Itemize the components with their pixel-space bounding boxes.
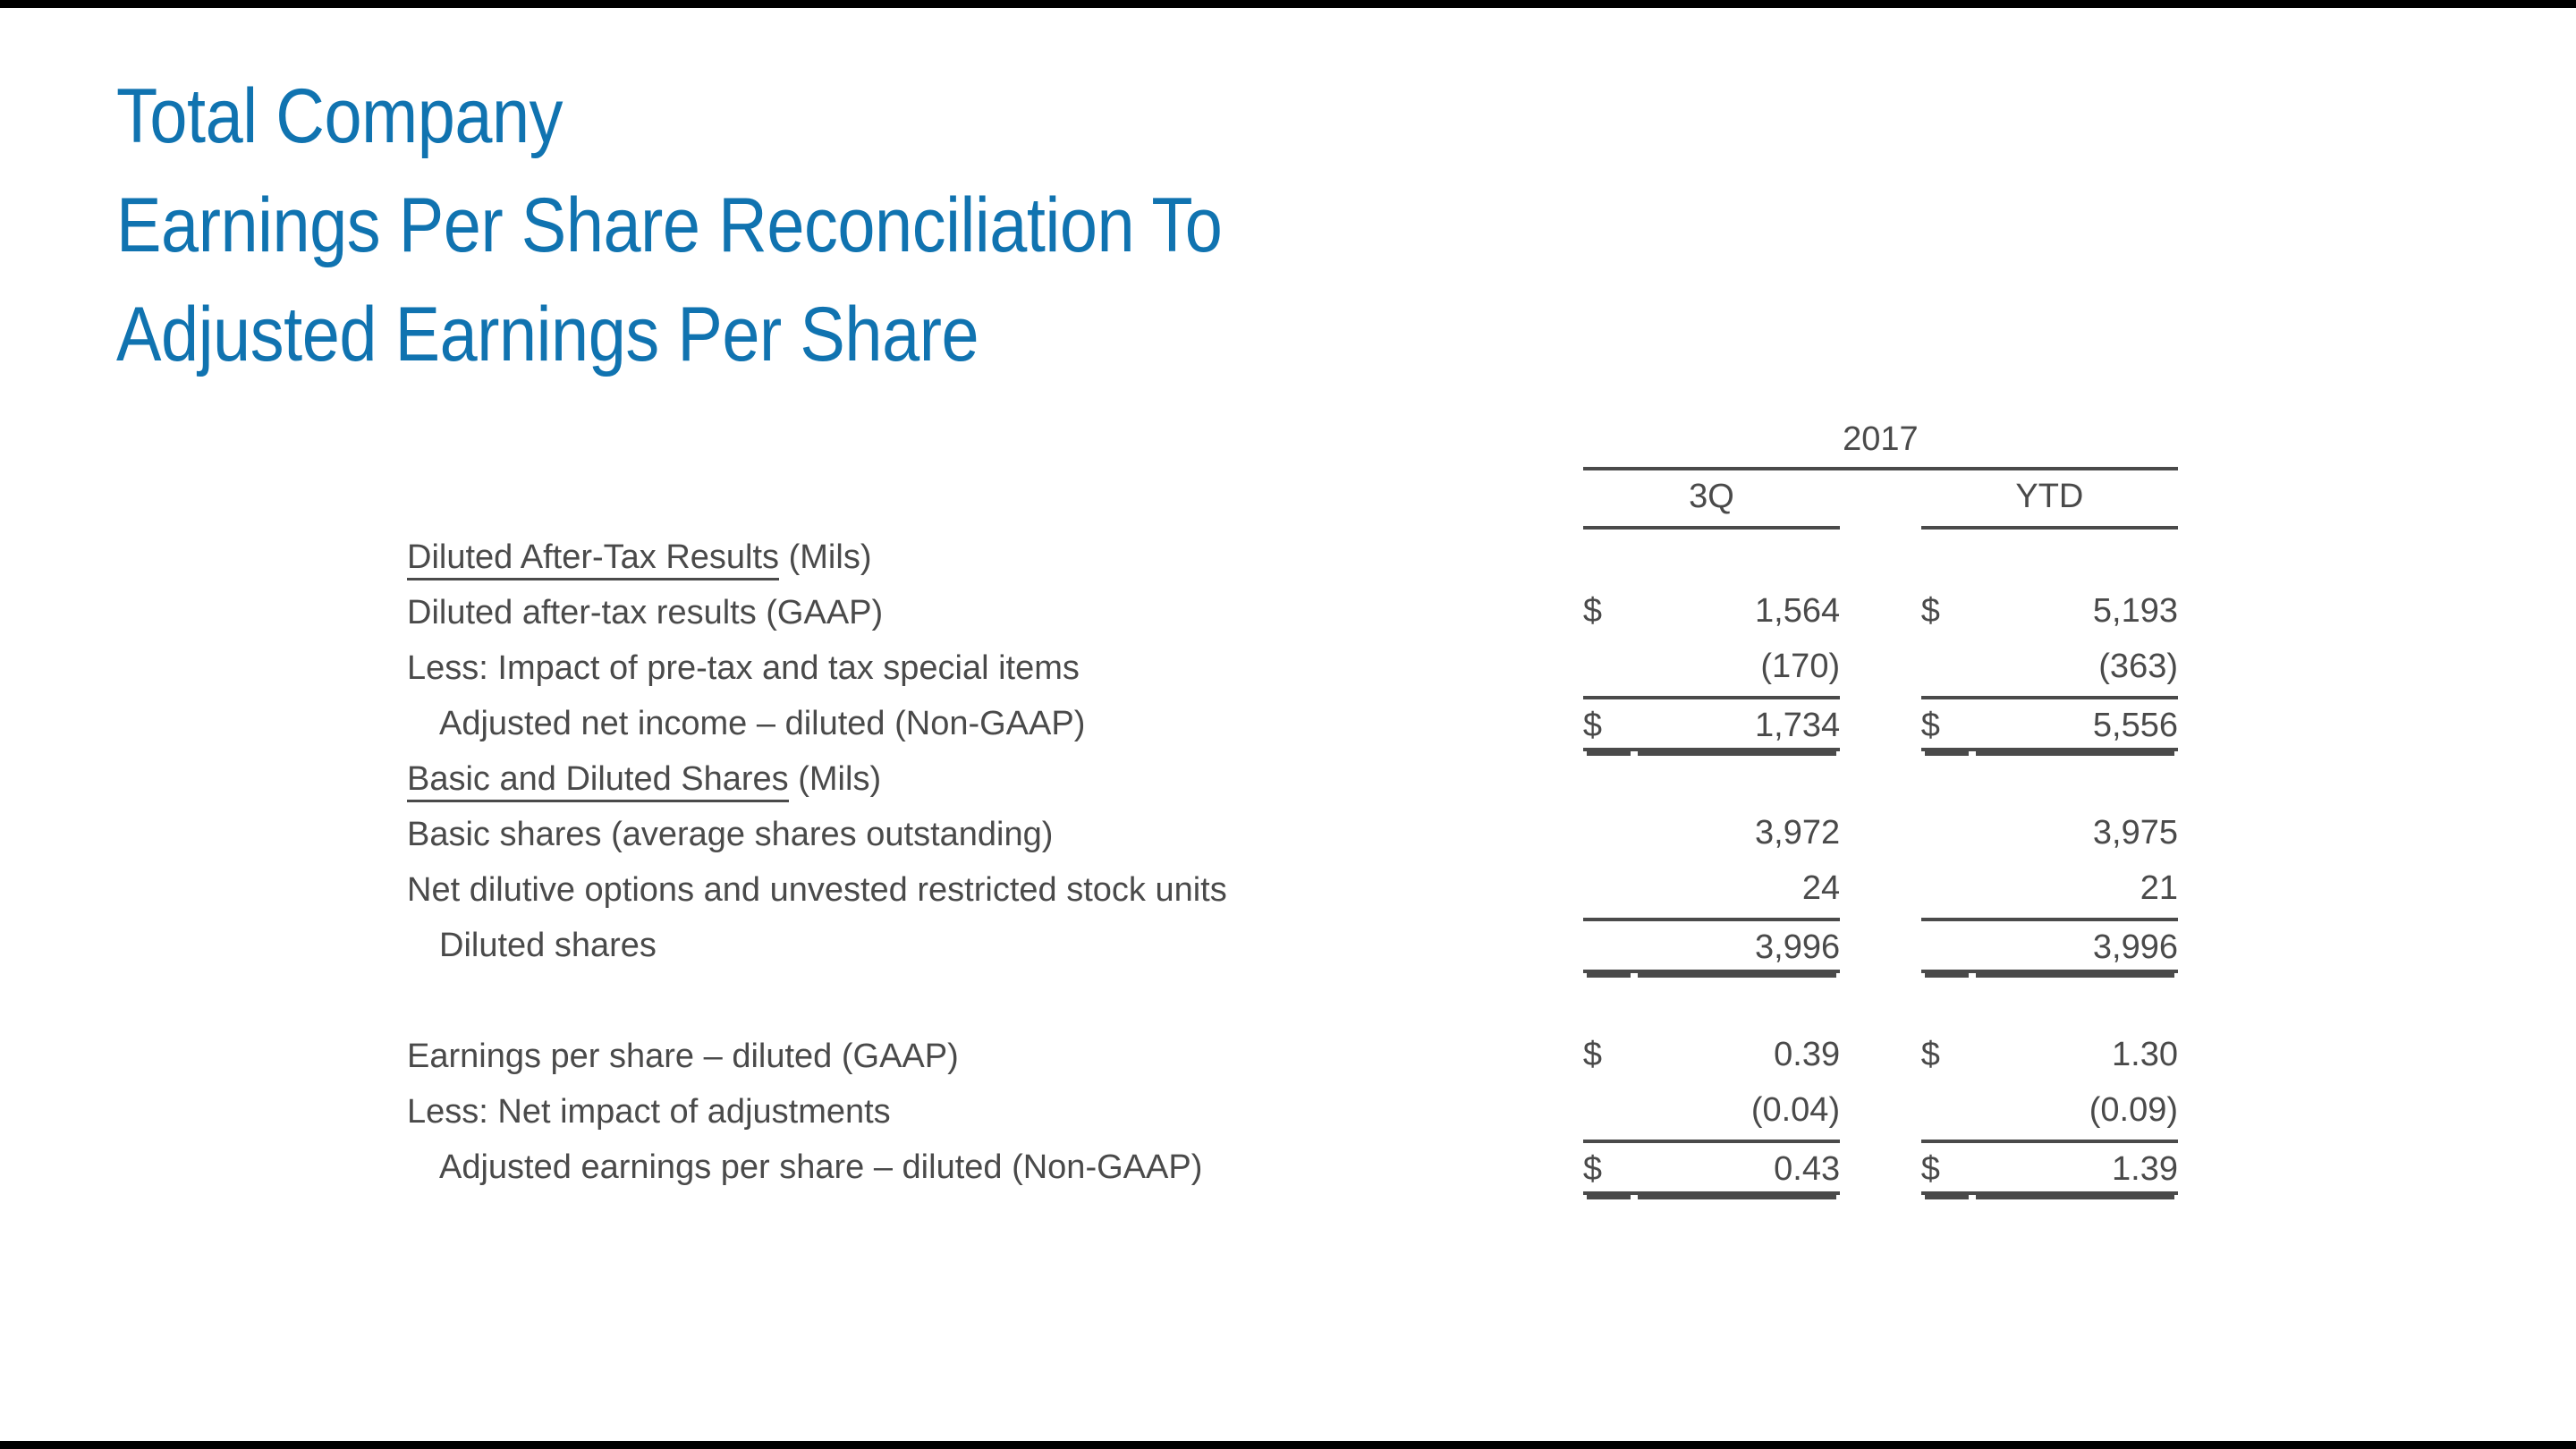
ytd-currency-cell bbox=[1921, 640, 1972, 696]
currency-symbol: $ bbox=[1921, 1140, 1972, 1195]
cell-value: (0.04) bbox=[1634, 1084, 1840, 1140]
cell-value: 21 bbox=[1972, 862, 2178, 918]
currency-symbol: $ bbox=[1921, 585, 1972, 640]
currency-symbol bbox=[1583, 807, 1634, 862]
ytd-value-cell: 5,193 bbox=[1972, 585, 2178, 640]
column-gap bbox=[1840, 862, 1921, 918]
cell-value: 3,972 bbox=[1634, 807, 1840, 862]
financial-table: 20173QYTDDiluted After-Tax Results (Mils… bbox=[407, 415, 2178, 1195]
currency-symbol bbox=[1921, 640, 1972, 696]
year-header-cell: 2017 bbox=[1583, 415, 2178, 470]
year-label: 2017 bbox=[1583, 417, 2178, 470]
cell-value: 1.39 bbox=[1972, 1140, 2178, 1195]
q3-currency-cell bbox=[1583, 807, 1634, 862]
eps-reconciliation-table: 20173QYTDDiluted After-Tax Results (Mils… bbox=[0, 415, 2576, 1195]
q3-currency-cell: $ bbox=[1583, 696, 1634, 751]
header-spacer bbox=[407, 470, 1583, 530]
currency-symbol bbox=[1583, 862, 1634, 918]
row-label-cell: Diluted after-tax results (GAAP) bbox=[407, 585, 1583, 640]
row-label: Less: Net impact of adjustments bbox=[407, 1084, 1583, 1140]
ytd-currency-cell bbox=[1921, 862, 1972, 918]
page-title: Total Company Earnings Per Share Reconci… bbox=[116, 62, 1905, 389]
table-row: Adjusted net income – diluted (Non-GAAP)… bbox=[407, 696, 2178, 751]
ytd-value-cell: 5,556 bbox=[1972, 696, 2178, 751]
row-label-cell: Basic shares (average shares outstanding… bbox=[407, 807, 1583, 862]
currency-symbol bbox=[1583, 1084, 1634, 1140]
cell-value: (0.09) bbox=[1972, 1084, 2178, 1140]
q3-currency-cell bbox=[1583, 640, 1634, 696]
currency-symbol: $ bbox=[1583, 696, 1634, 751]
currency-symbol: $ bbox=[1921, 696, 1972, 751]
q3-value-cell: (170) bbox=[1634, 640, 1840, 696]
currency-symbol: $ bbox=[1921, 1029, 1972, 1084]
q3-currency-cell: $ bbox=[1583, 1140, 1634, 1195]
row-label: Earnings per share – diluted (GAAP) bbox=[407, 1029, 1583, 1084]
column-gap bbox=[1840, 585, 1921, 640]
ytd-value-cell: (363) bbox=[1972, 640, 2178, 696]
column-gap bbox=[1840, 1029, 1921, 1084]
cell-value: 5,556 bbox=[1972, 696, 2178, 751]
table-header-year-row: 2017 bbox=[407, 415, 2178, 470]
currency-symbol bbox=[1921, 807, 1972, 862]
currency-symbol bbox=[1921, 918, 1972, 973]
section-heading-cell bbox=[407, 973, 1583, 1029]
ytd-currency-cell: $ bbox=[1921, 585, 1972, 640]
currency-symbol bbox=[1583, 640, 1634, 696]
ytd-currency-cell: $ bbox=[1921, 696, 1972, 751]
column-header-q3: 3Q bbox=[1583, 470, 1840, 530]
column-gap bbox=[1840, 696, 1921, 751]
row-label-cell: Adjusted earnings per share – diluted (N… bbox=[407, 1140, 1583, 1195]
table-row: Diluted after-tax results (GAAP)$1,564$5… bbox=[407, 585, 2178, 640]
row-label-cell: Less: Impact of pre-tax and tax special … bbox=[407, 640, 1583, 696]
cell-value: 1,564 bbox=[1634, 585, 1840, 640]
table-header-columns-row: 3QYTD bbox=[407, 470, 2178, 530]
ytd-currency-cell: $ bbox=[1921, 1140, 1972, 1195]
ytd-value-cell: 21 bbox=[1972, 862, 2178, 918]
currency-symbol: $ bbox=[1583, 1140, 1634, 1195]
q3-currency-cell: $ bbox=[1583, 1029, 1634, 1084]
section-heading-filler bbox=[1583, 751, 2178, 807]
section-heading-suffix: (Mils) bbox=[779, 538, 871, 576]
cell-value: 3,996 bbox=[1634, 918, 1840, 973]
currency-symbol: $ bbox=[1583, 1029, 1634, 1084]
cell-value: (363) bbox=[1972, 640, 2178, 696]
currency-symbol bbox=[1921, 1084, 1972, 1140]
ytd-value-cell: (0.09) bbox=[1972, 1084, 2178, 1140]
cell-value: 0.39 bbox=[1634, 1029, 1840, 1084]
column-gap bbox=[1840, 640, 1921, 696]
section-heading: Basic and Diluted Shares (Mils) bbox=[407, 751, 1583, 807]
section-heading-row: Diluted After-Tax Results (Mils) bbox=[407, 530, 2178, 585]
row-label: Adjusted earnings per share – diluted (N… bbox=[407, 1140, 1583, 1195]
title-line-2: Earnings Per Share Reconciliation To bbox=[116, 171, 1690, 280]
row-label-cell: Diluted shares bbox=[407, 918, 1583, 973]
ytd-currency-cell bbox=[1921, 807, 1972, 862]
slide-canvas: Total Company Earnings Per Share Reconci… bbox=[0, 8, 2576, 1441]
column-gap bbox=[1840, 1140, 1921, 1195]
title-line-3: Adjusted Earnings Per Share bbox=[116, 280, 1690, 389]
cell-value: 0.43 bbox=[1634, 1140, 1840, 1195]
table-row: Less: Impact of pre-tax and tax special … bbox=[407, 640, 2178, 696]
q3-currency-cell bbox=[1583, 862, 1634, 918]
q3-value-cell: 1,564 bbox=[1634, 585, 1840, 640]
ytd-value-cell: 3,996 bbox=[1972, 918, 2178, 973]
column-header-ytd: YTD bbox=[1921, 470, 2178, 530]
column-header-label: 3Q bbox=[1583, 470, 1840, 530]
table-row: Less: Net impact of adjustments(0.04)(0.… bbox=[407, 1084, 2178, 1140]
row-label: Net dilutive options and unvested restri… bbox=[407, 862, 1583, 918]
section-heading-cell: Diluted After-Tax Results (Mils) bbox=[407, 530, 1583, 585]
section-spacer bbox=[407, 973, 1583, 1029]
bottom-edge-bar bbox=[0, 1441, 2576, 1449]
section-heading-cell: Basic and Diluted Shares (Mils) bbox=[407, 751, 1583, 807]
cell-value: 5,193 bbox=[1972, 585, 2178, 640]
ytd-value-cell: 1.39 bbox=[1972, 1140, 2178, 1195]
column-gap bbox=[1840, 918, 1921, 973]
header-gap bbox=[1840, 470, 1921, 530]
section-heading-filler bbox=[1583, 973, 2178, 1029]
column-gap bbox=[1840, 807, 1921, 862]
table-row: Adjusted earnings per share – diluted (N… bbox=[407, 1140, 2178, 1195]
column-gap bbox=[1840, 1084, 1921, 1140]
currency-symbol bbox=[1921, 862, 1972, 918]
table-row: Net dilutive options and unvested restri… bbox=[407, 862, 2178, 918]
ytd-value-cell: 3,975 bbox=[1972, 807, 2178, 862]
section-heading-underlined: Diluted After-Tax Results bbox=[407, 538, 779, 580]
section-heading-row: Basic and Diluted Shares (Mils) bbox=[407, 751, 2178, 807]
ytd-currency-cell bbox=[1921, 918, 1972, 973]
q3-value-cell: 0.39 bbox=[1634, 1029, 1840, 1084]
section-heading: Diluted After-Tax Results (Mils) bbox=[407, 530, 1583, 585]
q3-value-cell: 0.43 bbox=[1634, 1140, 1840, 1195]
cell-value: 1,734 bbox=[1634, 696, 1840, 751]
row-label: Less: Impact of pre-tax and tax special … bbox=[407, 640, 1583, 696]
section-heading-filler bbox=[1583, 530, 2178, 585]
section-heading-suffix: (Mils) bbox=[789, 760, 881, 798]
header-spacer bbox=[407, 415, 1583, 470]
column-header-label: YTD bbox=[1921, 470, 2178, 530]
q3-value-cell: 3,996 bbox=[1634, 918, 1840, 973]
q3-value-cell: 3,972 bbox=[1634, 807, 1840, 862]
q3-currency-cell bbox=[1583, 918, 1634, 973]
row-label: Diluted shares bbox=[407, 918, 1583, 973]
row-label-cell: Adjusted net income – diluted (Non-GAAP) bbox=[407, 696, 1583, 751]
table-row: Diluted shares3,9963,996 bbox=[407, 918, 2178, 973]
cell-value: 24 bbox=[1634, 862, 1840, 918]
row-label: Adjusted net income – diluted (Non-GAAP) bbox=[407, 696, 1583, 751]
currency-symbol bbox=[1583, 918, 1634, 973]
currency-symbol: $ bbox=[1583, 585, 1634, 640]
q3-value-cell: (0.04) bbox=[1634, 1084, 1840, 1140]
q3-value-cell: 24 bbox=[1634, 862, 1840, 918]
row-label: Diluted after-tax results (GAAP) bbox=[407, 585, 1583, 640]
q3-currency-cell bbox=[1583, 1084, 1634, 1140]
row-label-cell: Less: Net impact of adjustments bbox=[407, 1084, 1583, 1140]
q3-value-cell: 1,734 bbox=[1634, 696, 1840, 751]
q3-currency-cell: $ bbox=[1583, 585, 1634, 640]
cell-value: 1.30 bbox=[1972, 1029, 2178, 1084]
ytd-value-cell: 1.30 bbox=[1972, 1029, 2178, 1084]
ytd-currency-cell: $ bbox=[1921, 1029, 1972, 1084]
row-label: Basic shares (average shares outstanding… bbox=[407, 807, 1583, 862]
table-row: Basic shares (average shares outstanding… bbox=[407, 807, 2178, 862]
row-label-cell: Net dilutive options and unvested restri… bbox=[407, 862, 1583, 918]
cell-value: 3,996 bbox=[1972, 918, 2178, 973]
table-row: Earnings per share – diluted (GAAP)$0.39… bbox=[407, 1029, 2178, 1084]
cell-value: 3,975 bbox=[1972, 807, 2178, 862]
ytd-currency-cell bbox=[1921, 1084, 1972, 1140]
cell-value: (170) bbox=[1634, 640, 1840, 696]
section-heading-underlined: Basic and Diluted Shares bbox=[407, 760, 789, 802]
top-edge-bar bbox=[0, 0, 2576, 8]
row-label-cell: Earnings per share – diluted (GAAP) bbox=[407, 1029, 1583, 1084]
title-line-1: Total Company bbox=[116, 62, 1690, 171]
section-heading-row bbox=[407, 973, 2178, 1029]
